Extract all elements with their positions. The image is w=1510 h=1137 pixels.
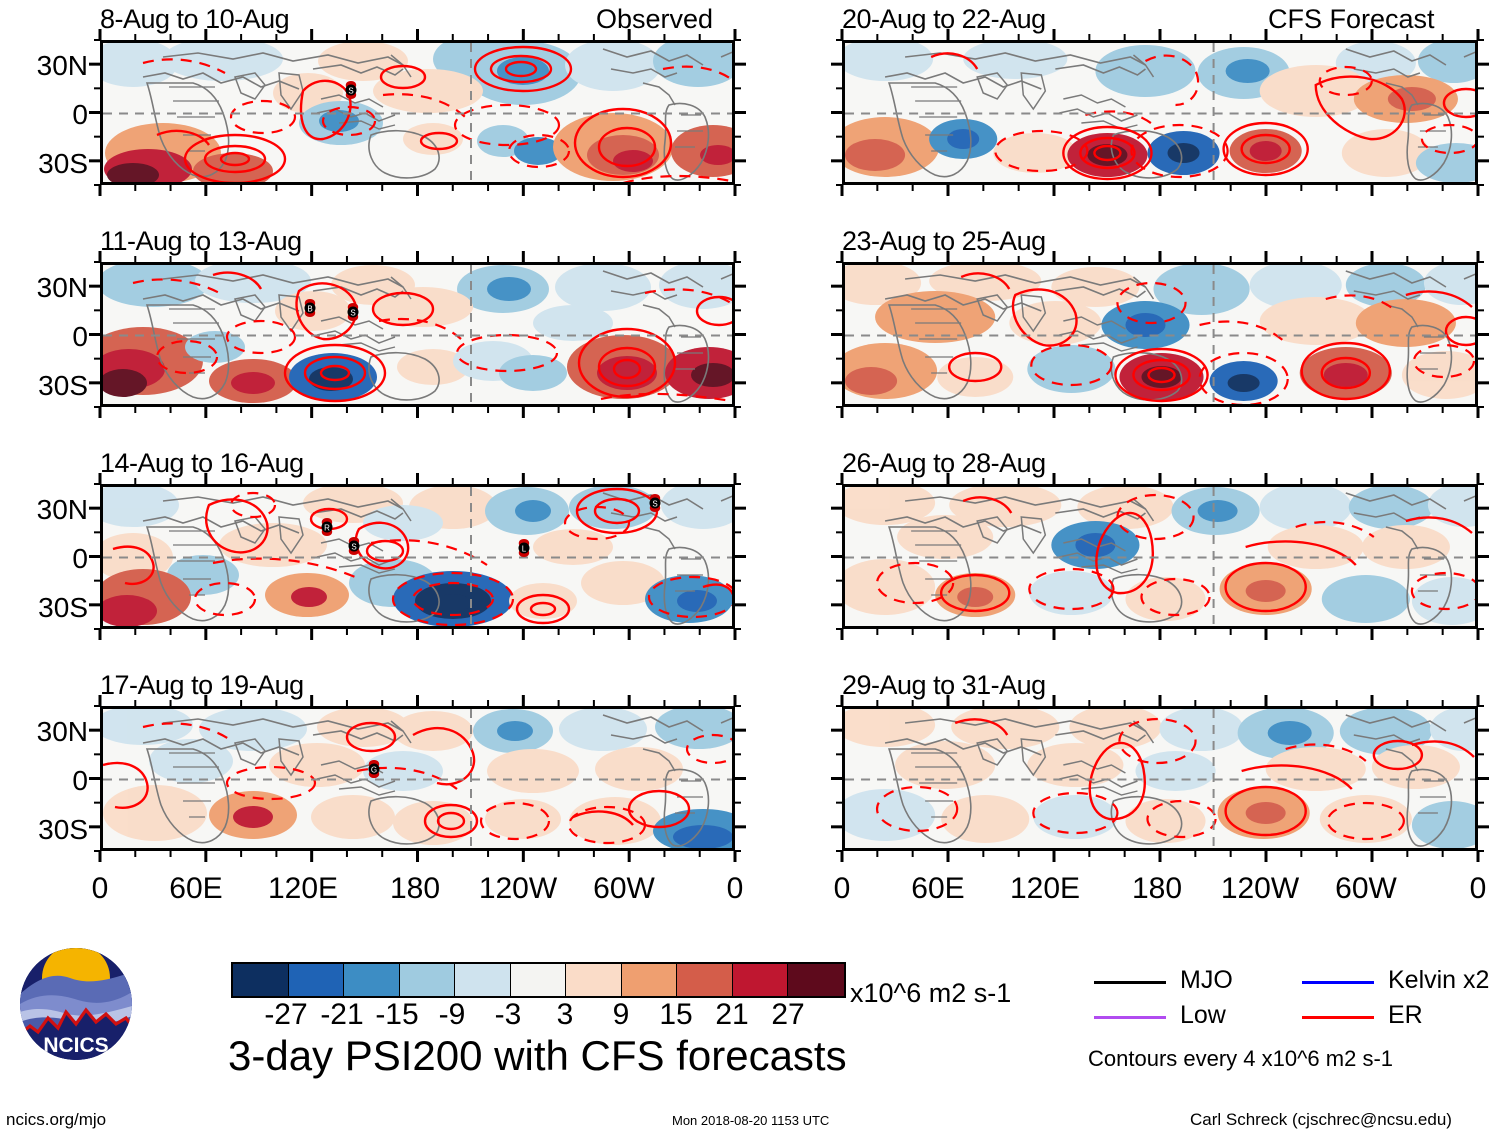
ytick-label-30s-r2: 30S (0, 370, 88, 402)
ytick-label-30n-r3: 30N (0, 494, 88, 526)
map-panel-26aug-28aug[interactable] (842, 484, 1478, 629)
footer-timestamp: Mon 2018-08-20 1153 UTC (672, 1113, 829, 1128)
logo-text: NCICS (43, 1034, 108, 1057)
tc-marker-s: S (348, 303, 359, 321)
xtick-label-r-60e: 60E (898, 872, 978, 906)
ytick-label-30s-r4: 30S (0, 814, 88, 846)
colorbar[interactable] (231, 962, 846, 998)
footer-link[interactable]: ncics.org/mjo (6, 1110, 106, 1130)
contour-interval-note: Contours every 4 x10^6 m2 s-1 (1088, 1046, 1393, 1072)
ytick-label-0-r1: 0 (0, 99, 88, 131)
ytick-label-30n-r2: 30N (0, 272, 88, 304)
svg-text:B: B (307, 304, 312, 313)
xtick-label-l-60w: 60W (582, 872, 666, 906)
main-title: 3-day PSI200 with CFS forecasts (228, 1032, 847, 1080)
cbar-tick-9: 9 (592, 998, 650, 1032)
panel-title-7: 26-Aug to 28-Aug (842, 448, 1046, 479)
svg-text:L: L (522, 544, 527, 553)
ytick-label-0-r4: 0 (0, 765, 88, 797)
map-panel-8aug-10aug[interactable]: S (100, 40, 735, 185)
cbar-seg-9 (733, 964, 789, 996)
xtick-label-l-120e: 120E (257, 872, 349, 906)
legend-label-kelvin: Kelvin x2 (1388, 966, 1489, 995)
svg-text:S: S (351, 542, 356, 551)
xtick-label-l-120w: 120W (470, 872, 566, 906)
ytick-label-30n-r1: 30N (0, 50, 88, 82)
cbar-tick-27: 27 (755, 998, 821, 1032)
map-panel-20aug-22aug[interactable] (842, 40, 1478, 185)
tc-marker-b: B (305, 299, 316, 317)
colorbar-units-label: x10^6 m2 s-1 (850, 978, 1011, 1009)
panel-title-5: 20-Aug to 22-Aug (842, 4, 1046, 35)
legend-swatch-kelvin (1302, 981, 1374, 984)
xtick-label-r-180: 180 (1120, 872, 1194, 906)
svg-text:G: G (371, 765, 377, 774)
tc-marker-r: R (322, 518, 333, 536)
ytick-label-0-r3: 0 (0, 543, 88, 575)
panel-title-6: 23-Aug to 25-Aug (842, 226, 1046, 257)
cbar-seg-8 (677, 964, 733, 996)
cbar-seg-2 (344, 964, 400, 996)
panel-title-3: 14-Aug to 16-Aug (100, 448, 304, 479)
panel-title-1: 8-Aug to 10-Aug (100, 4, 289, 35)
tc-marker-s: S (349, 537, 360, 555)
cbar-seg-6 (566, 964, 622, 996)
svg-text:S: S (350, 308, 355, 317)
xtick-label-l-0-end: 0 (705, 872, 765, 906)
legend-swatch-mjo (1094, 981, 1166, 984)
ytick-label-30n-r4: 30N (0, 716, 88, 748)
ytick-label-30s-r3: 30S (0, 592, 88, 624)
cbar-seg-0 (233, 964, 289, 996)
legend-label-mjo: MJO (1180, 966, 1233, 995)
svg-text:S: S (348, 86, 353, 95)
legend-swatch-low (1094, 1016, 1166, 1019)
column-header-cfs: CFS Forecast (1268, 4, 1435, 35)
xtick-label-r-0-end: 0 (1448, 872, 1508, 906)
tc-marker-s2: S (650, 494, 661, 512)
cbar-seg-5 (511, 964, 567, 996)
footer-author: Carl Schreck (cjschrec@ncsu.edu) (1190, 1110, 1452, 1130)
map-panel-29aug-31aug[interactable] (842, 706, 1478, 851)
tc-marker-l: L (519, 539, 530, 557)
xtick-label-r-60w: 60W (1324, 872, 1408, 906)
xtick-label-l-180: 180 (378, 872, 452, 906)
panel-title-2: 11-Aug to 13-Aug (100, 226, 302, 257)
cbar-seg-1 (289, 964, 345, 996)
map-panel-17aug-19aug[interactable]: G (100, 706, 735, 851)
xtick-label-r-120w: 120W (1212, 872, 1308, 906)
svg-text:S: S (652, 499, 657, 508)
map-panel-23aug-25aug[interactable] (842, 262, 1478, 407)
legend-swatch-er (1302, 1016, 1374, 1019)
ytick-label-0-r2: 0 (0, 321, 88, 353)
cbar-tick--3: -3 (477, 998, 539, 1032)
xtick-label-l-0: 0 (70, 872, 130, 906)
xtick-label-r-120e: 120E (999, 872, 1091, 906)
tc-marker-s: S (346, 81, 357, 99)
cbar-seg-10 (788, 964, 844, 996)
cbar-tick-3: 3 (536, 998, 594, 1032)
panel-title-8: 29-Aug to 31-Aug (842, 670, 1046, 701)
cbar-tick--9: -9 (421, 998, 483, 1032)
column-header-observed: Observed (596, 4, 713, 35)
xtick-label-l-60e: 60E (156, 872, 236, 906)
xtick-label-r-0: 0 (812, 872, 872, 906)
cbar-seg-3 (400, 964, 456, 996)
ytick-label-30s-r1: 30S (0, 148, 88, 180)
legend-label-er: ER (1388, 1001, 1423, 1030)
ncics-logo[interactable]: NCICS (20, 948, 132, 1060)
map-panel-11aug-13aug[interactable]: B S (100, 262, 735, 407)
svg-text:R: R (324, 523, 330, 532)
cbar-seg-4 (455, 964, 511, 996)
panel-title-4: 17-Aug to 19-Aug (100, 670, 304, 701)
cbar-seg-7 (622, 964, 678, 996)
legend-label-low: Low (1180, 1001, 1226, 1030)
map-panel-14aug-16aug[interactable]: R S L S (100, 484, 735, 629)
tc-marker-g: G (369, 760, 380, 778)
